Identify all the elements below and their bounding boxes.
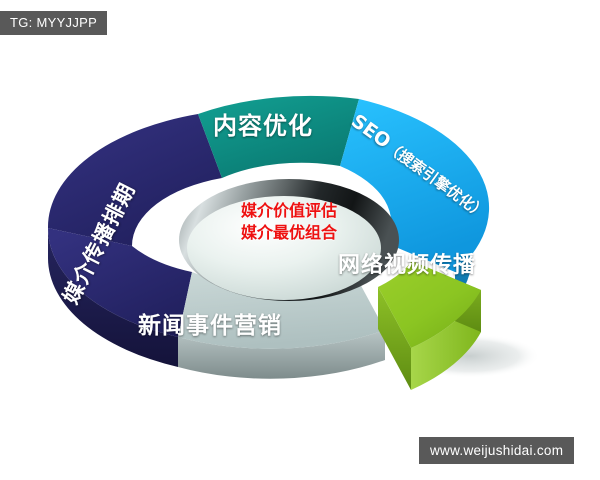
telegram-badge: TG: MYYJJPP — [0, 11, 107, 35]
slice-content[interactable] — [198, 96, 359, 178]
website-watermark-badge: www.weijushidai.com — [419, 437, 574, 464]
donut-chart — [0, 0, 600, 480]
infographic-stage: 内容优化 SEO（搜索引擎优化） 媒介传播排期 新闻事件营销 网络视频传播 媒介… — [0, 0, 600, 480]
hub-face — [187, 196, 381, 300]
